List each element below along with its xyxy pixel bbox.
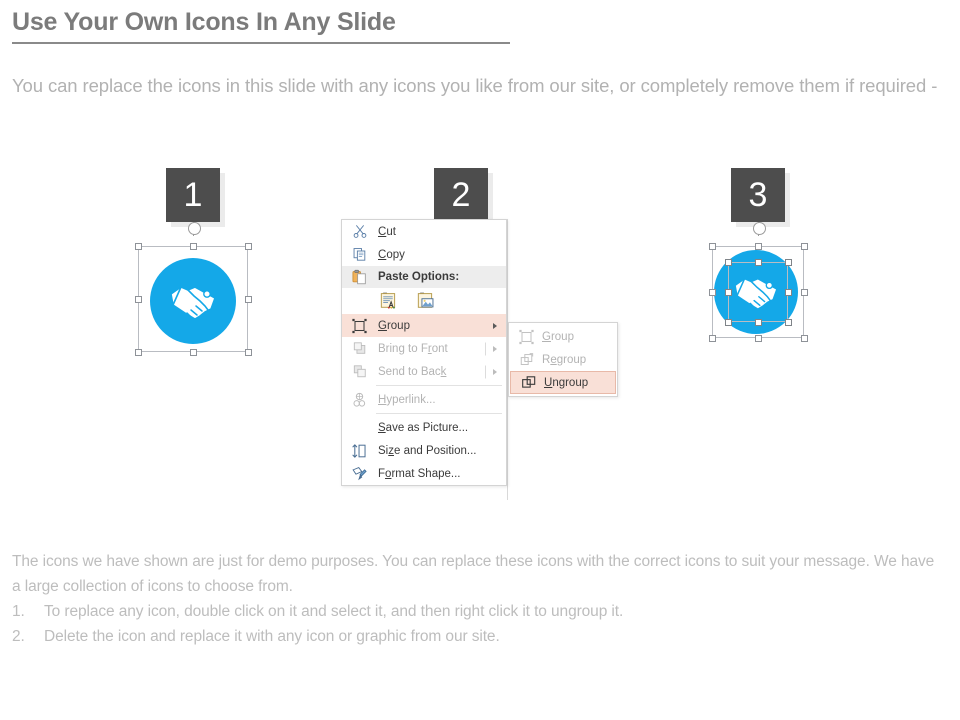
menu-item-save-as-picture[interactable]: Save as Picture...	[342, 416, 506, 439]
menu-item-label: Hyperlink...	[378, 394, 436, 406]
menu-item-group[interactable]: Group	[342, 314, 506, 337]
selection-handle-inner-ne-3[interactable]	[785, 259, 792, 266]
list-item: 2. Delete the icon and replace it with a…	[12, 624, 942, 649]
scissors-icon	[351, 223, 368, 240]
hyperlink-icon	[351, 391, 368, 408]
selection-handle-e-1[interactable]	[245, 296, 252, 303]
rotation-handle-1[interactable]	[188, 222, 201, 235]
step-badge-1: 1	[166, 168, 220, 222]
selection-handle-outer-w-3[interactable]	[709, 289, 716, 296]
bring-to-front-icon	[351, 340, 368, 357]
menu-item-format-shape[interactable]: Format Shape...	[342, 462, 506, 485]
page-title: Use Your Own Icons In Any Slide	[12, 8, 396, 37]
selection-handle-inner-s-3[interactable]	[755, 319, 762, 326]
selection-handle-n-1[interactable]	[190, 243, 197, 250]
size-position-icon	[351, 442, 368, 459]
menu-divider	[376, 385, 502, 386]
selection-handle-inner-w-3[interactable]	[725, 289, 732, 296]
selection-handle-outer-se-3[interactable]	[801, 335, 808, 342]
clipboard-icon	[351, 269, 368, 286]
menu-item-label: Save as Picture...	[378, 422, 468, 434]
selection-handle-outer-sw-3[interactable]	[709, 335, 716, 342]
menu-item-label: Bring to Front	[378, 343, 448, 355]
format-shape-icon	[351, 465, 368, 482]
title-underline-rule	[12, 42, 510, 44]
submenu-item-ungroup[interactable]: Ungroup	[510, 371, 616, 394]
selection-handle-outer-s-3[interactable]	[755, 335, 762, 342]
list-item-text: Delete the icon and replace it with any …	[44, 628, 500, 645]
selection-handle-inner-n-3[interactable]	[755, 259, 762, 266]
selection-box-inner-3[interactable]	[728, 262, 788, 322]
menu-item-label: Send to Back	[378, 366, 446, 378]
selection-handle-outer-n-3[interactable]	[755, 243, 762, 250]
selection-handle-outer-e-3[interactable]	[801, 289, 808, 296]
menu-item-size-and-position[interactable]: Size and Position...	[342, 439, 506, 462]
group-submenu[interactable]: Group Regroup Ungroup	[508, 322, 618, 397]
selection-handle-se-1[interactable]	[245, 349, 252, 356]
picture-paste-icon[interactable]	[417, 290, 436, 312]
submenu-item-group[interactable]: Group	[509, 325, 617, 348]
group-icon	[518, 328, 535, 345]
menu-item-cut[interactable]: Cut	[342, 220, 506, 243]
footer-paragraph: The icons we have shown are just for dem…	[12, 549, 942, 599]
submenu-item-label: Group	[542, 331, 574, 343]
list-item-number: 2.	[12, 624, 25, 649]
menu-item-bring-to-front[interactable]: Bring to Front	[342, 337, 506, 360]
selection-handle-w-1[interactable]	[135, 296, 142, 303]
submenu-item-label: Ungroup	[544, 377, 588, 389]
list-item-number: 1.	[12, 599, 25, 624]
page-subtitle: You can replace the icons in this slide …	[12, 72, 954, 99]
handshake-icon-circle-1[interactable]	[150, 258, 236, 344]
submenu-item-label: Regroup	[542, 354, 586, 366]
ungroup-icon	[520, 374, 537, 391]
paste-options-icon-row[interactable]	[342, 288, 506, 314]
menu-item-label: Copy	[378, 249, 405, 261]
chevron-right-icon	[493, 346, 497, 352]
selection-handle-s-1[interactable]	[190, 349, 197, 356]
menu-item-hyperlink[interactable]: Hyperlink...	[342, 388, 506, 411]
menu-separator-tick	[485, 365, 486, 378]
selection-handle-inner-sw-3[interactable]	[725, 319, 732, 326]
selection-handle-inner-se-3[interactable]	[785, 319, 792, 326]
context-menu[interactable]: Cut Copy Paste Options:	[341, 219, 507, 486]
keep-source-formatting-icon[interactable]	[380, 290, 399, 312]
menu-item-label: Size and Position...	[378, 445, 476, 457]
menu-item-label: Cut	[378, 226, 396, 238]
selection-handle-inner-nw-3[interactable]	[725, 259, 732, 266]
menu-item-label: Paste Options:	[378, 271, 459, 283]
send-to-back-icon	[351, 363, 368, 380]
step-badge-2: 2	[434, 168, 488, 222]
step-badge-3: 3	[731, 168, 785, 222]
rotation-handle-3[interactable]	[753, 222, 766, 235]
selection-handle-sw-1[interactable]	[135, 349, 142, 356]
list-item-text: To replace any icon, double click on it …	[44, 603, 623, 620]
menu-item-label: Format Shape...	[378, 468, 460, 480]
footer-instruction-list: 1. To replace any icon, double click on …	[12, 599, 942, 649]
menu-item-copy[interactable]: Copy	[342, 243, 506, 266]
list-item: 1. To replace any icon, double click on …	[12, 599, 942, 624]
copy-icon	[351, 246, 368, 263]
regroup-icon	[518, 351, 535, 368]
handshake-icon	[167, 280, 219, 322]
menu-separator-tick	[485, 342, 486, 355]
chevron-right-icon	[493, 323, 497, 329]
menu-item-send-to-back[interactable]: Send to Back	[342, 360, 506, 383]
menu-item-paste-options: Paste Options:	[342, 266, 506, 288]
selection-handle-ne-1[interactable]	[245, 243, 252, 250]
menu-divider	[376, 413, 502, 414]
chevron-right-icon	[493, 369, 497, 375]
submenu-item-regroup[interactable]: Regroup	[509, 348, 617, 371]
selection-handle-outer-ne-3[interactable]	[801, 243, 808, 250]
selection-handle-outer-nw-3[interactable]	[709, 243, 716, 250]
selection-handle-nw-1[interactable]	[135, 243, 142, 250]
menu-item-label: Group	[378, 320, 410, 332]
selection-handle-inner-e-3[interactable]	[785, 289, 792, 296]
footer-text-block: The icons we have shown are just for dem…	[12, 549, 942, 649]
group-icon	[351, 317, 368, 334]
